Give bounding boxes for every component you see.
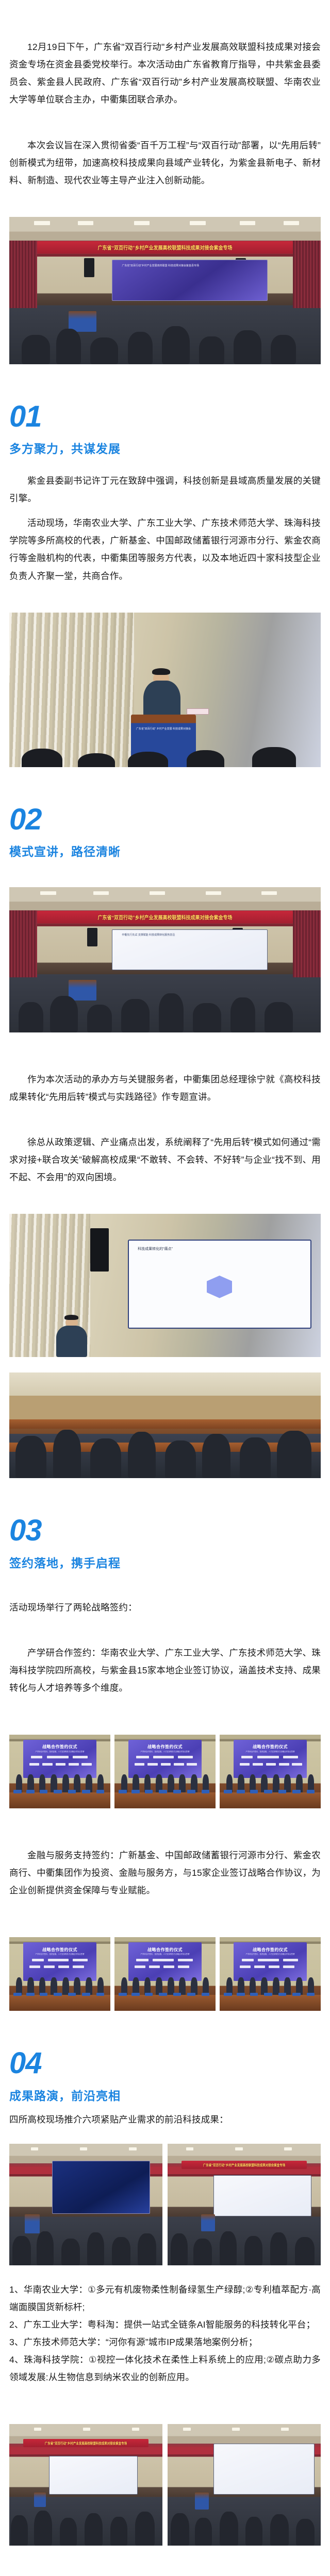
projection-screen: 广东省“双百行动”乡村产业发展高校联盟 科技成果对接会紫金县专场 — [112, 260, 268, 301]
audience-person — [128, 332, 153, 364]
signing-backdrop: 战略合作签约仪式 产学研合作签约、投资金融、人才支持等多方战略合作协议签署 — [23, 1942, 96, 1980]
achievement-item-4: 4、珠海科技学院：①视控一体化技术在柔性上料系统上的应用;②碳点助力多领域发展:… — [0, 2351, 330, 2386]
gap-after-roadshow-pair-2 — [0, 2546, 330, 2576]
ceiling-light-icon — [284, 221, 299, 225]
signing-board-subtitle: 产学研合作签约、投资金融、人才支持等多方战略合作协议签署 — [23, 1953, 96, 1955]
slide-title-text: 中衢先行先试 支撑赋能 科技成果转化服务前沿 — [122, 934, 258, 938]
name-plate — [68, 1993, 76, 1996]
audience-person — [199, 336, 224, 364]
name-plate — [202, 1790, 210, 1793]
signing-board-subtitle: 产学研合作签约、投资金融、人才支持等多方战略合作协议签署 — [234, 1953, 306, 1955]
org-chip — [161, 1763, 171, 1766]
signing-table — [9, 1792, 110, 1808]
photo-roadshow-1 — [9, 2144, 162, 2265]
hexagon-core-icon — [207, 1276, 232, 1298]
section-03-paragraph-1: 活动现场举行了两轮战略签约： — [0, 1599, 330, 1616]
section-03-title: 签约落地，携手启程 — [9, 1553, 321, 1571]
photo-roadshow-4 — [168, 2424, 321, 2546]
org-chip — [257, 1756, 279, 1758]
paragraph-gap — [0, 1616, 330, 1644]
audience-person — [270, 2232, 287, 2265]
ceiling-light-icon — [134, 221, 150, 225]
signing-table — [220, 1792, 321, 1808]
name-plate — [13, 1993, 22, 1996]
section-03-number: 03 — [9, 1516, 321, 1545]
line-array-speaker-icon — [87, 928, 97, 947]
name-plate — [237, 1790, 245, 1793]
curtain — [9, 613, 134, 767]
foreground-head — [78, 753, 115, 767]
projection-screen — [213, 2175, 311, 2216]
audience-person — [87, 1005, 112, 1032]
audience-person — [270, 2514, 289, 2546]
gap-after-signing-row-1 — [0, 1808, 330, 1846]
audience-person — [12, 2236, 31, 2265]
name-plate — [224, 1790, 232, 1793]
name-plate — [292, 1790, 301, 1793]
audience-person — [53, 1430, 81, 1478]
name-plate — [307, 1993, 315, 1996]
org-chip — [178, 1756, 192, 1758]
name-plate — [237, 1993, 245, 1996]
name-plate — [292, 1993, 301, 1996]
org-chip — [153, 1959, 174, 1961]
name-plate — [131, 1993, 140, 1996]
conference-desk — [9, 1419, 321, 1429]
photo-lecture: 广东省“双百行动”乡村产业发展高校联盟科技成果对接会紫金专场 中衢先行先试 支撑… — [9, 887, 321, 1032]
projection-screen: 中衢先行先试 支撑赋能 科技成果转化服务前沿 — [112, 929, 268, 970]
audience-person — [121, 999, 149, 1032]
achievement-item-1: 1、华南农业大学：①多元有机废物柔性制备绿氢生产绿醇;②专利植萃配方·高端面膜国… — [0, 2281, 330, 2316]
name-plate — [54, 1993, 62, 1996]
paragraph-gap — [0, 1106, 330, 1133]
photo-pair-roadshow-2: 广东省“双百行动”乡村产业发展高校联盟科技成果对接会紫金专场 — [0, 2424, 330, 2546]
org-chip — [254, 1965, 265, 1968]
name-plate — [202, 1993, 210, 1996]
achievement-item-3: 3、广东技术师范大学：“河你有源”城市IP成果落地案例分析； — [0, 2333, 330, 2351]
org-chip — [283, 1959, 298, 1961]
name-plate — [187, 1790, 195, 1793]
section-02-number: 02 — [9, 805, 321, 834]
signing-board-title: 战略合作签约仪式 — [128, 1744, 201, 1750]
name-plate — [145, 1790, 153, 1793]
intro-paragraph-1: 12月19日下午，广东省"双百行动"乡村产业发展高效联盟科技成果对接会资金专场在… — [0, 38, 330, 109]
section-01-paragraph-2: 活动现场，华南农业大学、广东工业大学、广东技术师范大学、珠海科技学院等多所高校的… — [0, 514, 330, 585]
audience-person — [85, 2513, 103, 2546]
article-page: 12月19日下午，广东省"双百行动"乡村产业发展高效联盟科技成果对接会资金专场在… — [0, 0, 330, 2576]
name-plate — [26, 1790, 35, 1793]
signing-table — [114, 1792, 216, 1808]
lectern-text: 广东省“双百行动” 乡村产业发展 科技成果对接会 — [136, 727, 191, 731]
signing-board-title: 战略合作签约仪式 — [23, 1744, 96, 1750]
name-plate — [82, 1993, 90, 1996]
photo-signing-4: 战略合作签约仪式 产学研合作签约、投资金融、人才支持等多方战略合作协议签署 — [9, 1937, 110, 2011]
section-02-title: 模式宣讲，路径清晰 — [9, 842, 321, 859]
audience-person — [271, 335, 295, 364]
signing-backdrop: 战略合作签约仪式 产学研合作签约、投资金融、人才支持等多方战略合作协议签署 — [234, 1942, 306, 1980]
name-plate — [131, 1790, 140, 1793]
audience-person — [50, 996, 78, 1032]
audience-person — [159, 993, 184, 1032]
audience-person — [110, 2517, 127, 2546]
section-04-title: 成果路演，前沿亮相 — [9, 2086, 321, 2104]
ceiling-light-icon — [129, 2147, 137, 2150]
signing-backdrop: 战略合作签约仪式 产学研合作签约、投资金融、人才支持等多方战略合作协议签署 — [128, 1740, 201, 1778]
achievement-list: 1、华南农业大学：①多元有机废物柔性制备绿氢生产绿醇;②专利植萃配方·高端面膜国… — [0, 2281, 330, 2386]
ceiling-light-icon — [183, 2428, 191, 2431]
photo-speech: 广东省“双百行动” 乡村产业发展 科技成果对接会 — [9, 613, 321, 767]
org-chip — [135, 1965, 145, 1968]
projection-screen — [49, 2456, 138, 2495]
audience-person — [195, 2518, 212, 2546]
top-spacer — [0, 0, 330, 38]
gap-before-section-02 — [0, 767, 330, 805]
ceiling-light-icon — [150, 891, 165, 895]
ceiling-light-icon — [132, 2428, 140, 2431]
ceiling-light-icon — [40, 891, 56, 895]
org-chip — [44, 1965, 55, 1968]
projection-screen — [52, 2161, 150, 2214]
foreground-head — [128, 752, 169, 767]
org-chip — [73, 1959, 87, 1961]
org-chip — [163, 1965, 174, 1968]
org-chip — [42, 1763, 53, 1766]
projection-screen: 科技成果转化的“痛点” — [128, 1240, 311, 1328]
org-chip — [258, 1959, 279, 1961]
signing-table — [220, 1995, 321, 2011]
section-01-header: 01 多方聚力，共谋发展 — [0, 402, 330, 456]
org-chip — [174, 1763, 184, 1766]
name-plate — [119, 1993, 127, 1996]
ceiling-light-icon — [31, 2147, 39, 2150]
stage-banner-text: 广东省“双百行动”乡村产业发展高校联盟科技成果对接会紫金专场 — [97, 913, 232, 921]
audience-person — [22, 335, 49, 364]
org-chip — [48, 1959, 69, 1961]
ceiling-light-icon — [281, 2428, 289, 2431]
audience-person — [37, 2231, 54, 2265]
org-chip — [242, 1959, 254, 1961]
audience-person — [90, 1438, 121, 1479]
paragraph-gap — [0, 507, 330, 514]
spacer — [0, 1357, 330, 1372]
line-array-speaker-icon — [84, 258, 94, 277]
name-plate — [13, 1790, 22, 1793]
audience-person — [171, 2513, 189, 2546]
ceiling-light-icon — [206, 891, 221, 895]
foreground-head — [187, 750, 224, 767]
ceiling-light-icon — [93, 891, 109, 895]
audience-person — [138, 2233, 156, 2265]
photo-signing-5: 战略合作签约仪式 产学研合作签约、投资金融、人才支持等多方战略合作协议签署 — [114, 1937, 216, 2011]
name-plate — [40, 1790, 48, 1793]
section-03-header: 03 签约落地，携手启程 — [0, 1516, 330, 1570]
audience-person — [277, 1431, 311, 1478]
foreground-head — [22, 749, 62, 767]
audience-person — [11, 2515, 28, 2546]
podium — [69, 980, 96, 1000]
section-01-number: 01 — [9, 402, 321, 431]
name-plate — [68, 1790, 76, 1793]
photo-pair-roadshow-1: 广东省“双百行动”乡村产业发展高校联盟科技成果对接会紫金专场 — [0, 2144, 330, 2265]
org-chip — [147, 1763, 158, 1766]
audience-person — [56, 329, 81, 364]
org-chip — [283, 1965, 294, 1968]
audience-person — [61, 2239, 80, 2265]
gap-before-signing-row-2 — [0, 1899, 330, 1937]
org-chip — [187, 1763, 197, 1766]
photo-signing-2: 战略合作签约仪式 产学研合作签约、投资金融、人才支持等多方战略合作协议签署 — [114, 1735, 216, 1808]
ceiling-light-icon — [190, 221, 205, 225]
org-chip — [32, 1959, 44, 1961]
stage-banner: 广东省“双百行动”乡村产业发展高校联盟科技成果对接会紫金专场 — [37, 911, 292, 923]
org-chip — [283, 1756, 298, 1758]
section-02-header: 02 模式宣讲，路径清晰 — [0, 805, 330, 859]
gap-before-signing-row-1 — [0, 1697, 330, 1735]
audience-person — [295, 2237, 315, 2265]
name-plate — [54, 1790, 62, 1793]
section-02-paragraph-2: 徐总从政策逻辑、产业痛点出发，系统阐释了“先用后转”模式如何通过“需求对接+联合… — [0, 1133, 330, 1186]
gap-before-roadshow-pair-1 — [0, 2128, 330, 2144]
speaker-body — [56, 1326, 87, 1357]
name-plate — [187, 1993, 195, 1996]
stage-curtain-left — [9, 241, 37, 309]
podium — [195, 2493, 209, 2510]
audience-person — [171, 2233, 188, 2265]
section-04-header: 04 成果路演，前沿亮相 — [0, 2049, 330, 2103]
signing-table — [9, 1995, 110, 2011]
section-04-lead: 四所高校现场推介六项紧贴产业需求的前沿科技成果： — [0, 2111, 330, 2128]
audience-person — [234, 330, 261, 364]
audience-person — [220, 2512, 238, 2546]
org-chip — [31, 1756, 43, 1758]
intro-paragraph-2: 本次会议旨在深入贯彻省委“百千万工程”与“双百行动”部署，以“先用后转”创新模式… — [0, 137, 330, 189]
org-chip — [47, 1756, 69, 1758]
stage-banner: 广东省“双百行动”乡村产业发展高校联盟科技成果对接会紫金专场 — [37, 241, 292, 253]
audience-person — [60, 2518, 77, 2546]
audience-person — [34, 2511, 53, 2546]
audience-person — [220, 2231, 237, 2265]
name-plate — [96, 1790, 105, 1793]
audience-person — [128, 1432, 156, 1478]
org-chip — [240, 1965, 251, 1968]
stage-curtain-right — [293, 241, 321, 309]
ceiling-light-icon — [78, 221, 93, 225]
name-plate — [264, 1993, 272, 1996]
audience-person — [265, 1002, 292, 1032]
name-plate — [82, 1790, 90, 1793]
signing-backdrop: 战略合作签约仪式 产学研合作签约、投资金融、人才支持等多方战略合作协议签署 — [234, 1740, 306, 1778]
ceiling-light-icon — [240, 221, 255, 225]
org-chip — [178, 1959, 192, 1961]
signing-backdrop: 战略合作签约仪式 产学研合作签约、投资金融、人才支持等多方战略合作协议签署 — [23, 1740, 96, 1778]
name-plate — [278, 1993, 287, 1996]
name-plate — [96, 1993, 105, 1996]
org-chip — [29, 1763, 40, 1766]
signing-board-subtitle: 产学研合作签约、投资金融、人才支持等多方战略合作协议签署 — [234, 1750, 306, 1753]
name-plate — [26, 1993, 35, 1996]
name-plate — [264, 1790, 272, 1793]
name-plate — [307, 1790, 315, 1793]
photo-audience — [9, 1372, 321, 1478]
stage-banner: 广东省“双百行动”乡村产业发展高校联盟科技成果对接会紫金专场 — [23, 2439, 149, 2448]
ceiling-light-icon — [261, 891, 277, 895]
audience-person — [19, 1002, 43, 1032]
org-chip — [279, 1763, 289, 1766]
gap-before-photo-speech — [0, 585, 330, 613]
photo-pain-points: 科技成果转化的“痛点” — [9, 1214, 321, 1357]
audience-person — [162, 326, 190, 364]
audience-person — [112, 2237, 130, 2265]
org-chip — [241, 1756, 253, 1758]
audience-person — [90, 337, 118, 364]
ceiling-light-icon — [34, 221, 49, 225]
org-chip — [29, 1965, 40, 1968]
section-04-number: 04 — [9, 2049, 321, 2077]
name-plate — [119, 1790, 127, 1793]
signing-board-title: 战略合作签约仪式 — [234, 1947, 306, 1953]
gap-before-photo-opening — [0, 189, 330, 217]
org-chip — [253, 1763, 263, 1766]
name-plate — [224, 1993, 232, 1996]
audience-person — [230, 997, 255, 1032]
org-chip — [269, 1965, 279, 1968]
org-chip — [56, 1763, 66, 1766]
section-03-paragraph-3: 金融与服务支持签约：广新基金、中国邮政储蓄银行河源市分行、紫金农商行、中衢集团作… — [0, 1846, 330, 1899]
ceiling-light-icon — [186, 2147, 194, 2150]
ceiling-light-icon — [80, 2147, 88, 2150]
signing-board-title: 战略合作签约仪式 — [23, 1947, 96, 1953]
signing-board-title: 战略合作签约仪式 — [128, 1947, 201, 1953]
audience-person — [244, 2236, 263, 2265]
audience-person — [135, 2512, 155, 2546]
audience-person — [165, 1440, 196, 1479]
stage-banner-text: 广东省“双百行动”乡村产业发展高校联盟科技成果对接会紫金专场 — [203, 2162, 286, 2167]
signing-backdrop: 战略合作签约仪式 产学研合作签约、投资金融、人才支持等多方战略合作协议签署 — [128, 1942, 201, 1980]
signing-board-title: 战略合作签约仪式 — [234, 1744, 306, 1750]
org-chip — [69, 1763, 79, 1766]
stage-curtain-right — [293, 910, 321, 977]
slide-title-text: 广东省“双百行动”乡村产业发展高校联盟 科技成果对接会紫金县专场 — [122, 264, 258, 268]
photo-opening-ceremony: 广东省“双百行动”乡村产业发展高校联盟科技成果对接会紫金专场 广东省“双百行动”… — [9, 217, 321, 364]
podium — [25, 2214, 40, 2234]
name-plate — [159, 1790, 167, 1793]
foreground-head — [252, 747, 296, 767]
projection-screen — [213, 2444, 315, 2495]
name-plate — [250, 1993, 258, 1996]
ceiling-light-icon — [284, 2147, 292, 2150]
intro-gap — [0, 109, 330, 137]
photo-signing-1: 战略合作签约仪式 产学研合作签约、投资金融、人才支持等多方战略合作协议签署 — [9, 1735, 110, 1808]
gap-before-roadshow-pair-2 — [0, 2386, 330, 2424]
org-chip — [73, 1965, 84, 1968]
audience-person — [240, 1437, 271, 1479]
photo-roadshow-3: 广东省“双百行动”乡村产业发展高校联盟科技成果对接会紫金专场 — [9, 2424, 162, 2546]
org-chip — [292, 1763, 302, 1766]
line-array-speaker-icon — [90, 1228, 109, 1271]
stage-banner-text: 广东省“双百行动”乡村产业发展高校联盟科技成果对接会紫金专场 — [97, 244, 232, 251]
stage-banner-text: 广东省“双百行动”乡村产业发展高校联盟科技成果对接会紫金专场 — [45, 2441, 127, 2445]
photo-row-signing-2: 战略合作签约仪式 产学研合作签约、投资金融、人才支持等多方战略合作协议签署 — [0, 1937, 330, 2011]
gap-before-photo-pain-points — [0, 1186, 330, 1214]
photo-row-signing-1: 战略合作签约仪式 产学研合作签约、投资金融、人才支持等多方战略合作协议签署 — [0, 1735, 330, 1808]
gap-after-section-03-header — [0, 1571, 330, 1599]
name-plate — [159, 1993, 167, 1996]
name-plate — [278, 1790, 287, 1793]
signing-board-subtitle: 产学研合作签约、投资金融、人才支持等多方战略合作协议签署 — [128, 1750, 201, 1753]
signing-board-subtitle: 产学研合作签约、投资金融、人才支持等多方战略合作协议签署 — [128, 1953, 201, 1955]
achievement-item-2: 2、广东工业大学：粤科淘：提供一站式全链条AI智能服务的科技转化平台； — [0, 2316, 330, 2333]
ceiling-light-icon — [235, 2147, 243, 2150]
stage-banner: 广东省“双百行动”乡村产业发展高校联盟科技成果对接会紫金专场 — [181, 2161, 307, 2170]
audience-person — [245, 2517, 262, 2546]
audience-person — [15, 1436, 46, 1478]
ceiling-light-icon — [232, 2428, 240, 2431]
photo-signing-6: 战略合作签约仪式 产学研合作签约、投资金融、人才支持等多方战略合作协议签署 — [220, 1937, 321, 2011]
podium — [201, 2214, 215, 2231]
section-01-paragraph-1: 紫金县委副书记许丁元在致辞中强调，科技创新是县域高质量发展的关键引擎。 — [0, 472, 330, 507]
org-chip — [73, 1756, 87, 1758]
signing-table — [114, 1995, 216, 2011]
gap-after-photo-lecture — [0, 1032, 330, 1071]
gap-before-section-01 — [0, 364, 330, 402]
org-chip — [240, 1763, 250, 1766]
org-chip — [266, 1763, 276, 1766]
org-chip — [178, 1965, 189, 1968]
audience-person — [193, 1003, 221, 1032]
org-chip — [136, 1959, 148, 1961]
gap-after-roadshow-pair-1 — [0, 2265, 330, 2281]
gap-before-section-04 — [0, 2011, 330, 2049]
name-plate — [173, 1790, 181, 1793]
org-chip — [58, 1965, 69, 1968]
photo-signing-3: 战略合作签约仪式 产学研合作签约、投资金融、人才支持等多方战略合作协议签署 — [220, 1735, 321, 1808]
audience-person — [296, 2519, 315, 2546]
section-02-paragraph-1: 作为本次活动的承办方与关键服务者，中衢集团总经理徐宁就《高校科技成果转化“先用后… — [0, 1071, 330, 1106]
org-chip — [135, 1763, 145, 1766]
gap-after-section-02-header — [0, 859, 330, 887]
ceiling-light-icon — [34, 2428, 42, 2431]
name-card — [187, 708, 208, 715]
org-chip — [136, 1756, 149, 1758]
audience-person — [87, 2232, 104, 2265]
org-chip — [153, 1756, 174, 1758]
signing-board-subtitle: 产学研合作签约、投资金融、人才支持等多方战略合作协议签署 — [23, 1750, 96, 1753]
podium — [34, 2493, 46, 2507]
audience-person — [202, 1434, 230, 1478]
photo-roadshow-2: 广东省“双百行动”乡村产业发展高校联盟科技成果对接会紫金专场 — [168, 2144, 321, 2265]
name-plate — [173, 1993, 181, 1996]
name-plate — [40, 1993, 48, 1996]
gap-before-section-03 — [0, 1478, 330, 1516]
gap-after-section-01-header — [0, 456, 330, 472]
stage-curtain-left — [9, 910, 37, 977]
audience-person — [193, 2239, 212, 2265]
section-01-title: 多方聚力，共谋发展 — [9, 439, 321, 456]
name-plate — [145, 1993, 153, 1996]
section-03-paragraph-2: 产学研合作签约：华南农业大学、广东工业大学、广东技术师范大学、珠海科技学院四所高… — [0, 1644, 330, 1697]
slide-title-text: 科技成果转化的“痛点” — [138, 1246, 173, 1251]
name-plate — [250, 1790, 258, 1793]
ceiling-light-icon — [83, 2428, 91, 2431]
org-chip — [149, 1965, 160, 1968]
org-chip — [81, 1763, 92, 1766]
gap-after-section-04-header — [0, 2104, 330, 2111]
